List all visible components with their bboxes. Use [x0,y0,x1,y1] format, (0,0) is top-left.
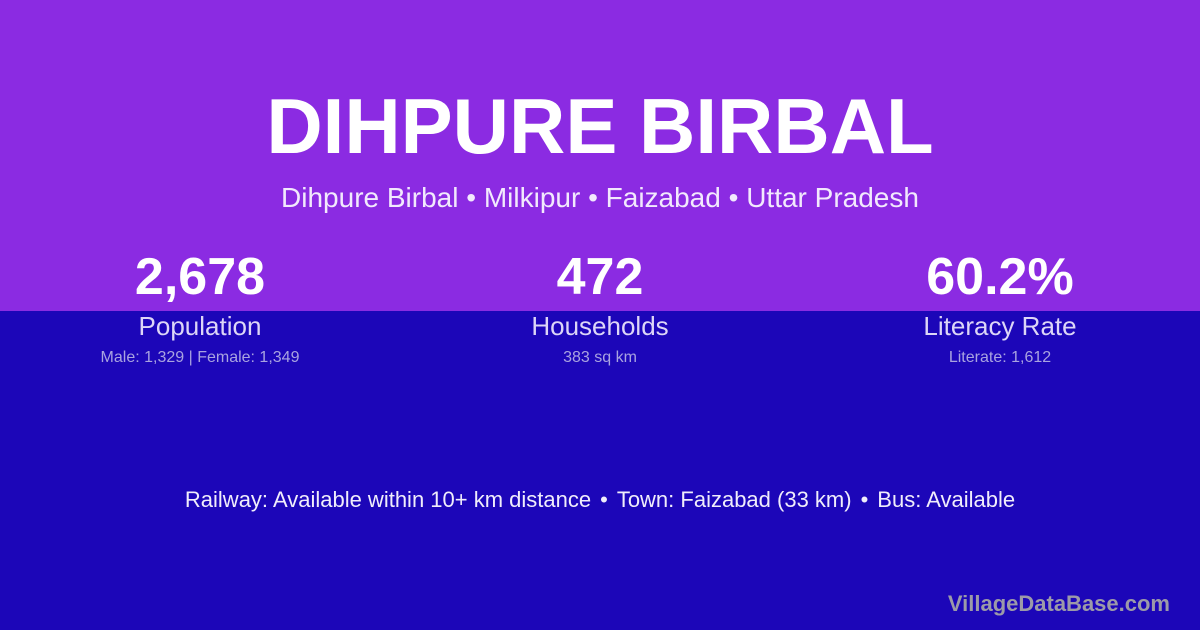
stat-population: 2,678 Population Male: 1,329 | Female: 1… [0,248,400,368]
stat-label: Population [0,306,400,341]
breadcrumb: Dihpure Birbal • Milkipur • Faizabad • U… [0,169,1200,215]
stat-label: Households [400,306,800,341]
stat-value: 2,678 [0,248,400,306]
stat-detail: Literate: 1,612 [800,341,1200,368]
stat-detail: 383 sq km [400,341,800,368]
stat-value: 60.2% [800,248,1200,306]
amenity-bus: Bus: Available [877,487,1015,512]
village-summary-card: DIHPURE BIRBAL Dihpure Birbal • Milkipur… [0,0,1200,630]
amenity-town: Town: Faizabad (33 km) [617,487,852,512]
page-title: DIHPURE BIRBAL [0,0,1200,169]
brand-watermark: VillageDataBase.com [948,590,1170,618]
bullet-separator-icon: • [852,486,878,514]
amenities-line: Railway: Available within 10+ km distanc… [0,486,1200,514]
bullet-separator-icon: • [591,486,617,514]
header: DIHPURE BIRBAL Dihpure Birbal • Milkipur… [0,0,1200,215]
stats-row: 2,678 Population Male: 1,329 | Female: 1… [0,248,1200,368]
stat-value: 472 [400,248,800,306]
stat-households: 472 Households 383 sq km [400,248,800,368]
stat-label: Literacy Rate [800,306,1200,341]
stat-detail: Male: 1,329 | Female: 1,349 [0,341,400,368]
amenity-railway: Railway: Available within 10+ km distanc… [185,487,591,512]
stat-literacy-rate: 60.2% Literacy Rate Literate: 1,612 [800,248,1200,368]
